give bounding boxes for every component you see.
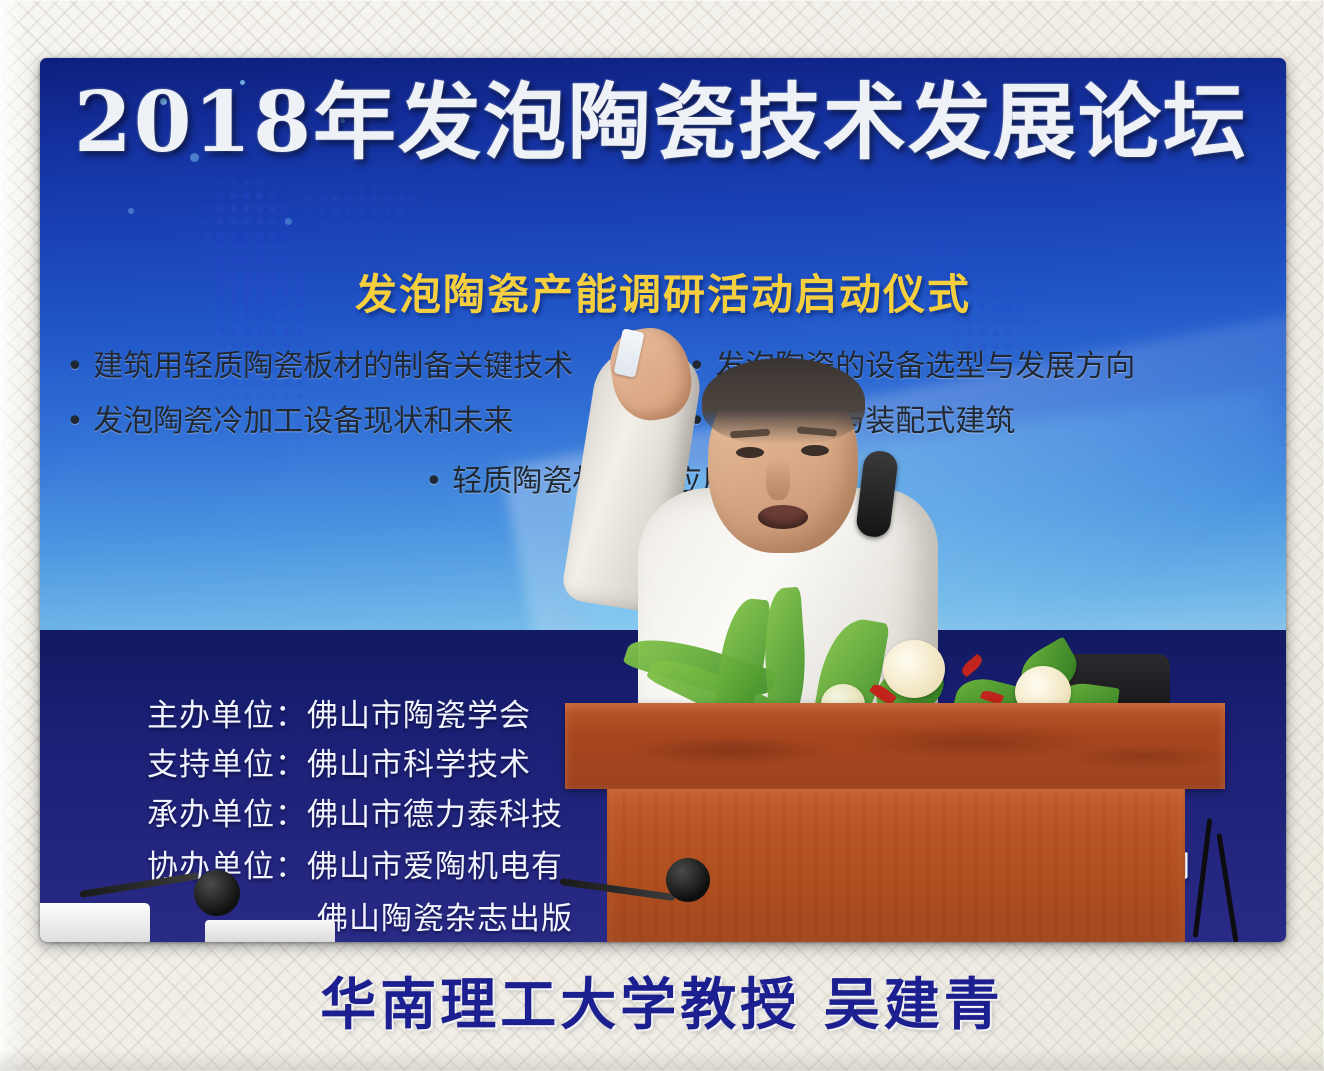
podium-top-surface bbox=[565, 703, 1225, 789]
speaker-hair bbox=[702, 358, 865, 444]
speaker-scene bbox=[40, 58, 1286, 942]
speaker-nose bbox=[766, 458, 790, 500]
rose-flower bbox=[883, 640, 945, 698]
microphone-stem bbox=[560, 878, 676, 901]
speaker-eye-right bbox=[801, 445, 829, 456]
microphone-head bbox=[194, 870, 240, 916]
foreground-microphone-center bbox=[560, 858, 710, 902]
foreground-paper-sheet bbox=[40, 903, 150, 942]
speaker-mouth bbox=[758, 505, 808, 529]
red-accent-leaf bbox=[959, 654, 984, 678]
speaker-eye-left bbox=[736, 447, 764, 458]
wooden-podium bbox=[565, 703, 1225, 942]
foreground-paper-sheet bbox=[205, 920, 335, 942]
caption-speaker-name: 华南理工大学教授 吴建青 bbox=[0, 960, 1324, 1041]
conference-speaker-photo: 2018年发泡陶瓷技术发展论坛 发泡陶瓷产能调研活动启动仪式 建筑用轻质陶瓷板材… bbox=[40, 58, 1286, 942]
microphone-stem bbox=[79, 872, 199, 898]
microphone-head bbox=[666, 858, 710, 902]
photo-card: 2018年发泡陶瓷技术发展论坛 发泡陶瓷产能调研活动启动仪式 建筑用轻质陶瓷板材… bbox=[0, 0, 1324, 1071]
